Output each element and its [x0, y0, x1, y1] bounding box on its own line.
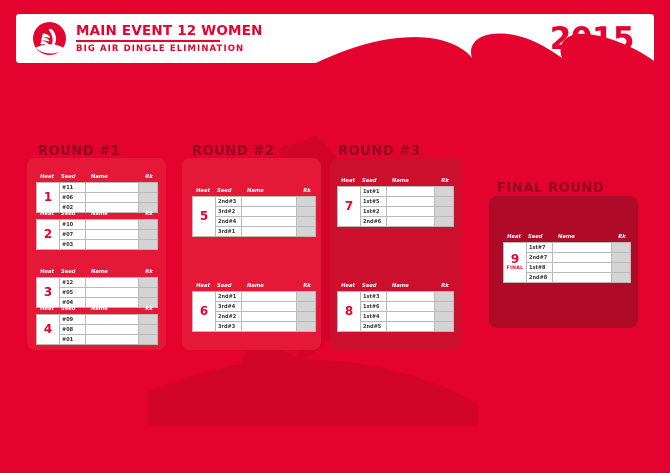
- seed-cell: 3rd#4: [216, 302, 242, 311]
- event-title: MAIN EVENT 12 WOMEN: [76, 24, 263, 38]
- heat-row[interactable]: 2nd#8: [527, 273, 630, 282]
- seed-value: #10: [62, 222, 73, 228]
- name-cell[interactable]: [86, 278, 139, 287]
- heat-row[interactable]: #08: [60, 325, 157, 335]
- column-header-rank: Rk: [140, 174, 158, 181]
- heat-row[interactable]: #01: [60, 335, 157, 344]
- name-cell[interactable]: [387, 217, 435, 226]
- event-logo-icon: [33, 22, 66, 55]
- name-cell[interactable]: [553, 263, 612, 272]
- column-header-name: Name: [243, 283, 298, 290]
- heat-table: 2#10#07#03: [36, 219, 158, 250]
- seed-cell: #09: [60, 315, 86, 324]
- heat-number: 7: [345, 200, 353, 213]
- rank-cell[interactable]: [297, 302, 315, 311]
- name-cell[interactable]: [86, 230, 139, 239]
- seed-value: 3rd#3: [218, 324, 235, 330]
- column-header-seed: Seed: [359, 283, 388, 290]
- seed-cell: 2nd#7: [527, 253, 553, 262]
- rank-cell[interactable]: [297, 227, 315, 236]
- seed-cell: 2nd#3: [216, 197, 242, 206]
- heat-row[interactable]: 2nd#1: [216, 292, 315, 302]
- heat-row[interactable]: #10: [60, 220, 157, 230]
- heat-row[interactable]: 2nd#3: [216, 197, 315, 207]
- seed-value: 3rd#2: [218, 209, 235, 215]
- round-heading: ROUND #3: [338, 144, 421, 159]
- seed-value: 2nd#5: [363, 324, 381, 330]
- rank-cell[interactable]: [297, 322, 315, 331]
- heat-block: HeatSeedNameRk9FINAL1st#72nd#71st#82nd#8: [503, 232, 631, 283]
- rank-cell[interactable]: [297, 207, 315, 216]
- heat-table: 62nd#13rd#42nd#23rd#3: [192, 291, 316, 332]
- heat-column-headers: HeatSeedNameRk: [36, 209, 158, 218]
- heat-number-cell: 4: [37, 315, 60, 344]
- name-cell[interactable]: [553, 243, 612, 252]
- name-cell[interactable]: [242, 217, 297, 226]
- heat-number: 3: [44, 286, 52, 299]
- rank-cell[interactable]: [435, 217, 453, 226]
- seed-cell: 2nd#2: [216, 312, 242, 321]
- name-cell[interactable]: [86, 288, 139, 297]
- heat-column-headers: HeatSeedNameRk: [36, 304, 158, 313]
- heat-row[interactable]: 2nd#2: [216, 312, 315, 322]
- seed-value: 1st#3: [363, 294, 380, 300]
- column-header-heat: Heat: [337, 283, 359, 290]
- heat-number-cell: 9FINAL: [504, 243, 527, 282]
- heat-block: HeatSeedNameRk2#10#07#03: [36, 209, 158, 250]
- rank-cell[interactable]: [139, 335, 157, 344]
- column-header-name: Name: [388, 283, 436, 290]
- seed-cell: 1st#5: [361, 197, 387, 206]
- round-heading: ROUND #1: [38, 144, 121, 159]
- heat-column-headers: HeatSeedNameRk: [337, 176, 454, 185]
- column-header-heat: Heat: [36, 306, 58, 313]
- heat-column-headers: HeatSeedNameRk: [192, 186, 316, 195]
- heat-column-headers: HeatSeedNameRk: [192, 281, 316, 290]
- seed-cell: 2nd#4: [216, 217, 242, 226]
- seed-cell: #06: [60, 193, 86, 202]
- title-divider: [76, 40, 220, 42]
- rank-cell[interactable]: [139, 193, 157, 202]
- name-cell[interactable]: [387, 302, 435, 311]
- heat-row[interactable]: #12: [60, 278, 157, 288]
- seed-value: #03: [62, 242, 73, 248]
- rank-cell[interactable]: [297, 217, 315, 226]
- seed-value: 3rd#1: [218, 229, 235, 235]
- heat-rows: 2nd#13rd#42nd#23rd#3: [216, 292, 315, 331]
- seed-value: 1st#5: [363, 199, 380, 205]
- seed-cell: #05: [60, 288, 86, 297]
- round-heading: FINAL ROUND: [497, 181, 604, 196]
- name-cell[interactable]: [86, 193, 139, 202]
- rank-cell[interactable]: [139, 278, 157, 287]
- name-cell[interactable]: [242, 302, 297, 311]
- name-cell[interactable]: [387, 197, 435, 206]
- rank-cell[interactable]: [612, 273, 630, 282]
- seed-cell: #08: [60, 325, 86, 334]
- column-header-seed: Seed: [58, 269, 87, 276]
- name-cell[interactable]: [86, 335, 139, 344]
- heat-table: 4#09#08#01: [36, 314, 158, 345]
- column-header-name: Name: [87, 269, 140, 276]
- name-cell[interactable]: [242, 322, 297, 331]
- seed-cell: #12: [60, 278, 86, 287]
- heat-row[interactable]: 2nd#5: [361, 322, 453, 331]
- heat-rows: #10#07#03: [60, 220, 157, 249]
- name-cell[interactable]: [553, 253, 612, 262]
- column-header-name: Name: [87, 211, 140, 218]
- heat-column-headers: HeatSeedNameRk: [503, 232, 631, 241]
- seed-cell: 1st#6: [361, 302, 387, 311]
- heat-row[interactable]: 3rd#4: [216, 302, 315, 312]
- heat-row[interactable]: 3rd#3: [216, 322, 315, 331]
- column-header-rank: Rk: [436, 283, 454, 290]
- seed-cell: #10: [60, 220, 86, 229]
- seed-value: 3rd#4: [218, 304, 235, 310]
- heat-row[interactable]: 1st#5: [361, 197, 453, 207]
- name-cell[interactable]: [387, 322, 435, 331]
- seed-cell: #07: [60, 230, 86, 239]
- rank-cell[interactable]: [435, 322, 453, 331]
- heat-rows: 2nd#33rd#22nd#43rd#1: [216, 197, 315, 236]
- heat-row[interactable]: #05: [60, 288, 157, 298]
- heat-row[interactable]: #09: [60, 315, 157, 325]
- rank-cell[interactable]: [297, 197, 315, 206]
- seed-value: #08: [62, 327, 73, 333]
- column-header-heat: Heat: [192, 188, 214, 195]
- seed-cell: #03: [60, 240, 86, 249]
- rank-cell[interactable]: [435, 197, 453, 206]
- name-cell[interactable]: [553, 273, 612, 282]
- heat-number-cell: 7: [338, 187, 361, 226]
- column-header-rank: Rk: [436, 178, 454, 185]
- heat-number: 9: [511, 253, 519, 266]
- name-cell[interactable]: [387, 312, 435, 321]
- seed-value: #05: [62, 290, 73, 296]
- seed-cell: #01: [60, 335, 86, 344]
- heat-row[interactable]: 3rd#2: [216, 207, 315, 217]
- heat-block: HeatSeedNameRk3#12#05#04: [36, 267, 158, 308]
- column-header-rank: Rk: [613, 234, 631, 241]
- heat-rows: 1st#72nd#71st#82nd#8: [527, 243, 630, 282]
- header-bar: MAIN EVENT 12 WOMEN BIG AIR DINGLE ELIMI…: [16, 14, 654, 63]
- heat-number-cell: 5: [193, 197, 216, 236]
- seed-value: #12: [62, 280, 73, 286]
- seed-cell: 3rd#1: [216, 227, 242, 236]
- rank-cell[interactable]: [435, 312, 453, 321]
- seed-value: 2nd#3: [218, 199, 236, 205]
- heat-rows: #12#05#04: [60, 278, 157, 307]
- column-header-name: Name: [87, 174, 140, 181]
- heat-block: HeatSeedNameRk62nd#13rd#42nd#23rd#3: [192, 281, 316, 332]
- column-header-rank: Rk: [298, 283, 316, 290]
- heat-column-headers: HeatSeedNameRk: [36, 267, 158, 276]
- column-header-seed: Seed: [58, 174, 87, 181]
- seed-cell: 2nd#6: [361, 217, 387, 226]
- seed-value: 2nd#6: [363, 219, 381, 225]
- name-cell[interactable]: [242, 197, 297, 206]
- seed-value: #11: [62, 185, 73, 191]
- heat-rows: 1st#31st#61st#42nd#5: [361, 292, 453, 331]
- rank-cell[interactable]: [139, 315, 157, 324]
- heat-row[interactable]: 3rd#1: [216, 227, 315, 236]
- name-cell[interactable]: [387, 207, 435, 216]
- rank-cell[interactable]: [139, 230, 157, 239]
- column-header-heat: Heat: [36, 174, 58, 181]
- name-cell[interactable]: [242, 207, 297, 216]
- name-cell[interactable]: [86, 325, 139, 334]
- heat-number-cell: 8: [338, 292, 361, 331]
- seed-value: 1st#7: [529, 245, 546, 251]
- rank-cell[interactable]: [612, 253, 630, 262]
- column-header-heat: Heat: [36, 269, 58, 276]
- column-header-rank: Rk: [140, 306, 158, 313]
- seed-cell: 1st#8: [527, 263, 553, 272]
- name-cell[interactable]: [86, 220, 139, 229]
- heat-number-cell: 1: [37, 183, 60, 212]
- column-header-heat: Heat: [503, 234, 525, 241]
- heat-table: 81st#31st#61st#42nd#5: [337, 291, 454, 332]
- heat-rows: #09#08#01: [60, 315, 157, 344]
- heat-row[interactable]: 1st#4: [361, 312, 453, 322]
- heat-row[interactable]: #11: [60, 183, 157, 193]
- seed-value: 1st#2: [363, 209, 380, 215]
- seed-value: 1st#8: [529, 265, 546, 271]
- rank-cell[interactable]: [297, 312, 315, 321]
- seed-value: #07: [62, 232, 73, 238]
- column-header-seed: Seed: [214, 283, 243, 290]
- column-header-rank: Rk: [140, 269, 158, 276]
- heat-rows: 1st#11st#51st#22nd#6: [361, 187, 453, 226]
- heat-row[interactable]: 1st#8: [527, 263, 630, 273]
- name-cell[interactable]: [242, 292, 297, 301]
- rank-cell[interactable]: [435, 302, 453, 311]
- heat-column-headers: HeatSeedNameRk: [36, 172, 158, 181]
- seed-cell: 1st#7: [527, 243, 553, 252]
- rank-cell[interactable]: [139, 220, 157, 229]
- seed-cell: 3rd#3: [216, 322, 242, 331]
- name-cell[interactable]: [242, 312, 297, 321]
- rank-cell[interactable]: [435, 187, 453, 196]
- rank-cell[interactable]: [139, 240, 157, 249]
- rank-cell[interactable]: [297, 292, 315, 301]
- column-header-rank: Rk: [298, 188, 316, 195]
- seed-value: 2nd#8: [529, 275, 547, 281]
- heat-row[interactable]: 1st#1: [361, 187, 453, 197]
- column-header-heat: Heat: [337, 178, 359, 185]
- heat-number: 2: [44, 228, 52, 241]
- name-cell[interactable]: [86, 183, 139, 192]
- heat-sub-label: FINAL: [507, 266, 524, 272]
- seed-value: 2nd#1: [218, 294, 236, 300]
- column-header-rank: Rk: [140, 211, 158, 218]
- seed-cell: #11: [60, 183, 86, 192]
- rank-cell[interactable]: [435, 292, 453, 301]
- heat-row[interactable]: 1st#7: [527, 243, 630, 253]
- seed-cell: 1st#2: [361, 207, 387, 216]
- heat-number-cell: 2: [37, 220, 60, 249]
- seed-value: #01: [62, 337, 73, 343]
- heat-column-headers: HeatSeedNameRk: [337, 281, 454, 290]
- heat-row[interactable]: 2nd#6: [361, 217, 453, 226]
- rank-cell[interactable]: [612, 243, 630, 252]
- column-header-seed: Seed: [359, 178, 388, 185]
- seed-value: 2nd#7: [529, 255, 547, 261]
- heat-block: HeatSeedNameRk1#11#06#02: [36, 172, 158, 213]
- rank-cell[interactable]: [139, 288, 157, 297]
- event-subtitle: BIG AIR DINGLE ELIMINATION: [76, 44, 263, 54]
- heat-block: HeatSeedNameRk4#09#08#01: [36, 304, 158, 345]
- heat-row[interactable]: 1st#3: [361, 292, 453, 302]
- heat-number: 1: [44, 191, 52, 204]
- heat-number: 4: [44, 323, 52, 336]
- header-title-group: MAIN EVENT 12 WOMEN BIG AIR DINGLE ELIMI…: [76, 24, 263, 54]
- column-header-heat: Heat: [36, 211, 58, 218]
- round-heading: ROUND #2: [192, 144, 275, 159]
- column-header-name: Name: [87, 306, 140, 313]
- heat-table: 9FINAL1st#72nd#71st#82nd#8: [503, 242, 631, 283]
- column-header-heat: Heat: [192, 283, 214, 290]
- name-cell[interactable]: [387, 187, 435, 196]
- heat-number-cell: 3: [37, 278, 60, 307]
- year-label: 2015: [550, 21, 634, 57]
- heat-row[interactable]: 1st#6: [361, 302, 453, 312]
- heat-row[interactable]: #07: [60, 230, 157, 240]
- heat-rows: #11#06#02: [60, 183, 157, 212]
- heat-table: 71st#11st#51st#22nd#6: [337, 186, 454, 227]
- name-cell[interactable]: [86, 240, 139, 249]
- seed-cell: 2nd#1: [216, 292, 242, 301]
- column-header-name: Name: [554, 234, 613, 241]
- heat-block: HeatSeedNameRk52nd#33rd#22nd#43rd#1: [192, 186, 316, 237]
- heat-number: 8: [345, 305, 353, 318]
- name-cell[interactable]: [242, 227, 297, 236]
- seed-value: 1st#4: [363, 314, 380, 320]
- seed-cell: 3rd#2: [216, 207, 242, 216]
- column-header-name: Name: [388, 178, 436, 185]
- seed-value: #09: [62, 317, 73, 323]
- rank-cell[interactable]: [612, 263, 630, 272]
- seed-value: 2nd#2: [218, 314, 236, 320]
- heat-number-cell: 6: [193, 292, 216, 331]
- rank-cell[interactable]: [139, 183, 157, 192]
- heat-number: 6: [200, 305, 208, 318]
- heat-row[interactable]: 1st#2: [361, 207, 453, 217]
- seed-value: 1st#6: [363, 304, 380, 310]
- heat-block: HeatSeedNameRk81st#31st#61st#42nd#5: [337, 281, 454, 332]
- column-header-seed: Seed: [58, 211, 87, 218]
- seed-value: #06: [62, 195, 73, 201]
- seed-cell: 1st#1: [361, 187, 387, 196]
- name-cell[interactable]: [86, 315, 139, 324]
- column-header-seed: Seed: [525, 234, 554, 241]
- column-header-name: Name: [243, 188, 298, 195]
- name-cell[interactable]: [387, 292, 435, 301]
- heat-row[interactable]: 2nd#7: [527, 253, 630, 263]
- heat-table: 52nd#33rd#22nd#43rd#1: [192, 196, 316, 237]
- heat-number: 5: [200, 210, 208, 223]
- column-header-seed: Seed: [58, 306, 87, 313]
- rank-cell[interactable]: [435, 207, 453, 216]
- heat-row[interactable]: 2nd#4: [216, 217, 315, 227]
- heat-row[interactable]: #03: [60, 240, 157, 249]
- seed-cell: 2nd#8: [527, 273, 553, 282]
- column-header-seed: Seed: [214, 188, 243, 195]
- heat-row[interactable]: #06: [60, 193, 157, 203]
- seed-cell: 1st#4: [361, 312, 387, 321]
- seed-value: 2nd#4: [218, 219, 236, 225]
- heat-block: HeatSeedNameRk71st#11st#51st#22nd#6: [337, 176, 454, 227]
- seed-value: 1st#1: [363, 189, 380, 195]
- seed-cell: 1st#3: [361, 292, 387, 301]
- seed-cell: 2nd#5: [361, 322, 387, 331]
- rank-cell[interactable]: [139, 325, 157, 334]
